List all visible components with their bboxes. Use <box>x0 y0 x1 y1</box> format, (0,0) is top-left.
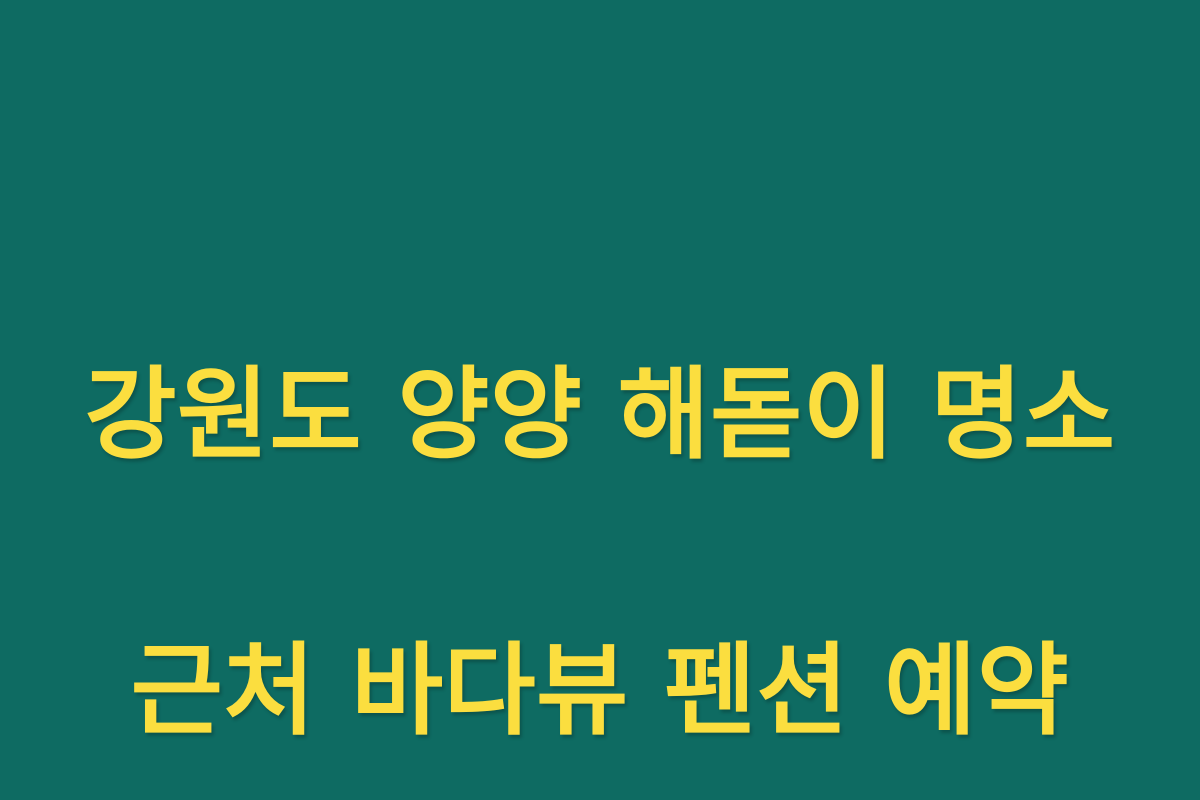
headline-line-2: 근처 바다뷰 펜션 예약 <box>20 622 1180 760</box>
headline-line-1: 강원도 양양 해돋이 명소 <box>20 346 1180 484</box>
promo-banner: 강원도 양양 해돋이 명소 근처 바다뷰 펜션 예약 서두르세요 <box>0 0 1200 800</box>
page-title: 강원도 양양 해돋이 명소 근처 바다뷰 펜션 예약 서두르세요 <box>20 208 1180 800</box>
